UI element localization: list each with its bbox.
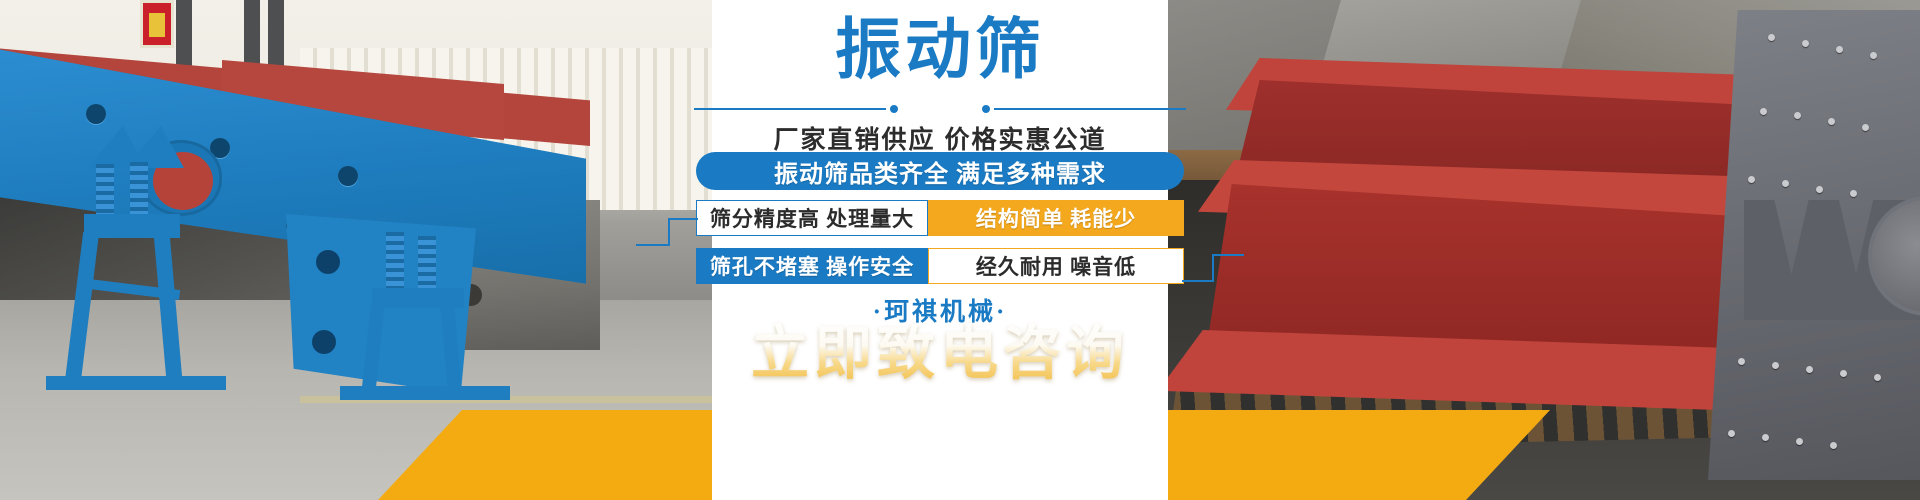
divider-line-left: [694, 108, 886, 110]
coil-spring: [96, 164, 114, 220]
support-foot: [340, 386, 510, 400]
center-text-panel: 振动筛 厂家直销供应 价格实惠公道 振动筛品类齐全 满足多种需求 筛分精度高 处…: [712, 0, 1168, 500]
coil-spring: [130, 162, 148, 218]
feature-cell-safety: 筛孔不堵塞 操作安全: [696, 248, 928, 284]
title-divider: [694, 104, 1186, 114]
highlight-pill: 振动筛品类齐全 满足多种需求: [696, 152, 1184, 190]
cta-text[interactable]: 立即致电咨询: [712, 318, 1168, 390]
feature-row-1: 筛分精度高 处理量大 结构简单 耗能少: [696, 200, 1184, 236]
feature-cell-accuracy: 筛分精度高 处理量大: [696, 200, 928, 236]
divider-line-right: [994, 108, 1186, 110]
divider-dot: [890, 105, 898, 113]
subtitle: 厂家直销供应 价格实惠公道: [712, 120, 1168, 156]
wall-sign: [140, 0, 174, 48]
coil-spring: [386, 232, 404, 288]
page-title: 振动筛: [712, 16, 1168, 82]
product-banner: 振动筛 厂家直销供应 价格实惠公道 振动筛品类齐全 满足多种需求 筛分精度高 处…: [0, 0, 1920, 500]
coil-spring: [418, 236, 436, 292]
feature-cell-structure: 结构简单 耗能少: [928, 200, 1184, 236]
connector-bracket-left: [636, 206, 698, 246]
support-foot: [46, 376, 226, 390]
divider-dot: [982, 105, 990, 113]
feature-cell-durability: 经久耐用 噪音低: [928, 248, 1184, 284]
feature-row-2: 筛孔不堵塞 操作安全 经久耐用 噪音低: [696, 248, 1184, 284]
connector-bracket-right: [1182, 254, 1244, 294]
